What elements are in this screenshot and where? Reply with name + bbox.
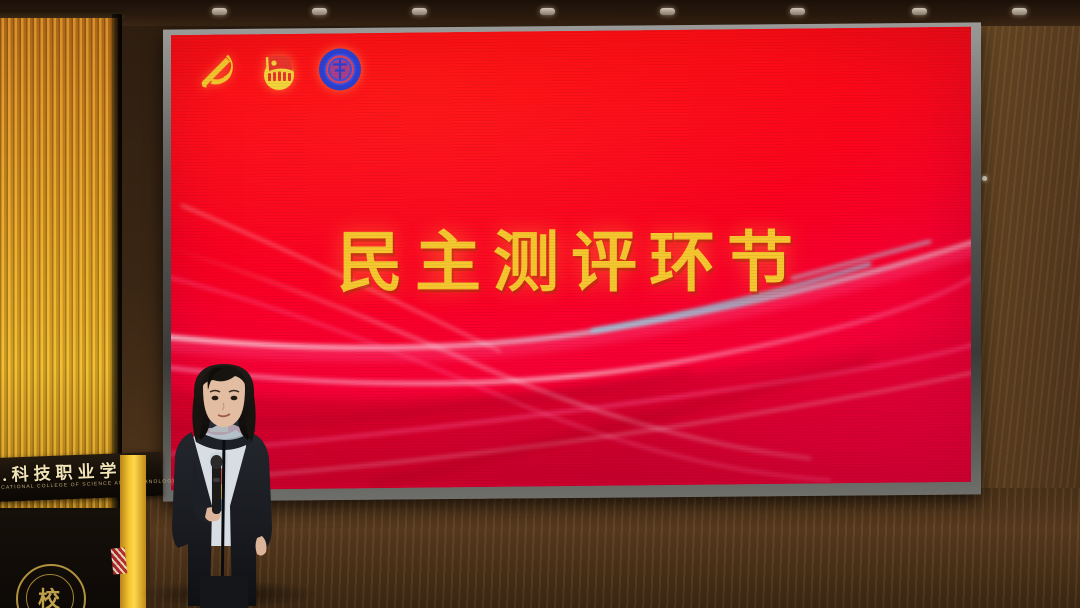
curtain-rail [0, 10, 124, 18]
ceiling-light [412, 8, 427, 15]
ceiling-light [660, 8, 675, 15]
ceiling-light [790, 8, 805, 15]
school-crest-glyph: 校 [34, 582, 64, 608]
ceiling-light [912, 8, 927, 15]
wall-fixture-dot [982, 176, 987, 181]
ceiling-light [312, 8, 327, 15]
auditorium-scene: 民主测评环节 ...科技职业学院 ...VOCATIONAL COLLEGE O… [0, 0, 1080, 608]
ceiling-light [1012, 8, 1027, 15]
ceiling-light [212, 8, 227, 15]
speaker-person [150, 358, 300, 608]
red-stripe-marker [111, 547, 128, 574]
ceiling-light [540, 8, 555, 15]
